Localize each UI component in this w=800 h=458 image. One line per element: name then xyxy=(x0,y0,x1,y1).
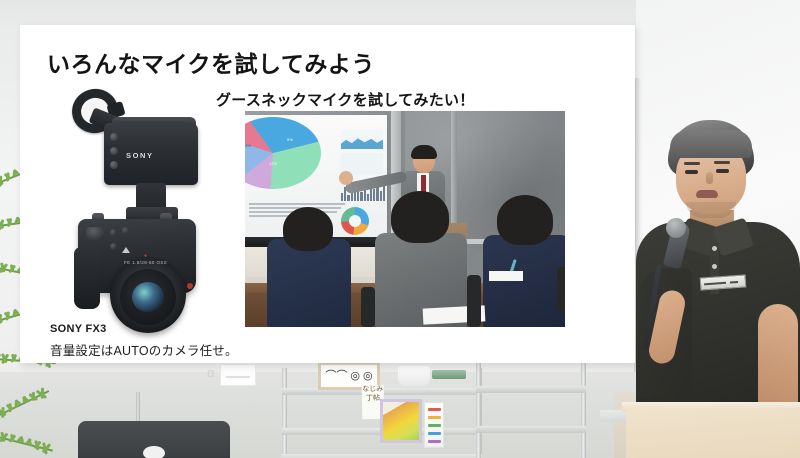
shelving-unit-right xyxy=(476,360,586,458)
stand-pole xyxy=(136,392,140,424)
live-speaker xyxy=(630,118,800,458)
pie-label-2: 12% xyxy=(269,161,277,166)
conference-room-photo: 5% 12% 38% xyxy=(245,111,565,327)
shelf-label-line1: なじみ xyxy=(362,385,384,394)
leaflet-stripe xyxy=(428,432,441,435)
index-triangle-icon xyxy=(122,247,130,253)
green-book xyxy=(432,370,466,379)
leaflet-stripe xyxy=(428,424,441,427)
record-button xyxy=(187,283,193,289)
speaker-nose xyxy=(706,172,713,184)
photo-mini-area-chart-1 xyxy=(341,129,383,149)
white-pot xyxy=(398,366,430,386)
camera-lens: FE 1.8/28-60 OSS ● xyxy=(110,257,186,333)
camera-caption-note: 音量設定はAUTOのカメラ任せ。 xyxy=(50,340,238,359)
leaflet-stripe xyxy=(428,408,441,411)
wall-notice xyxy=(220,364,256,386)
photo-chair-3 xyxy=(557,267,565,313)
lens-barrel xyxy=(120,269,176,325)
photo-pie-chart: 5% 12% 38% xyxy=(245,117,321,201)
lectern xyxy=(626,408,800,458)
leaflet-stack xyxy=(424,402,444,448)
alpha-mark: α xyxy=(207,365,215,380)
mode-dial xyxy=(86,227,104,240)
mini-bar xyxy=(341,193,343,201)
sign-glyph-1: ⌒⌒ xyxy=(325,371,347,382)
sign-glyph-3: ◎ xyxy=(363,371,373,382)
speaker-right-arm xyxy=(758,304,798,404)
speaker-eye-right xyxy=(716,169,729,173)
presenter-hair xyxy=(411,145,437,159)
speaker-mouth xyxy=(696,190,718,198)
slide-title: いろんなマイクを試してみよう xyxy=(47,45,375,79)
presentation-slide: いろんなマイクを試してみよう グースネックマイクを試してみたい！ SONY α xyxy=(20,25,635,363)
camera-caption-title: SONY FX3 xyxy=(50,323,107,335)
photo-attendee-1 xyxy=(267,207,351,327)
slide-subtitle: グースネックマイクを試してみたい！ xyxy=(216,89,475,110)
camera-product-image: SONY α FE 1.8/28-60 OSS ● xyxy=(48,87,208,337)
scene-stage: ⌒⌒ ◎ ◎ なじみ 丁帖 いろんなマイクを試してみよう グースネックマイクを試… xyxy=(0,0,800,458)
photo-paper-1 xyxy=(489,271,523,281)
photo-attendee-3 xyxy=(483,195,565,327)
mini-bar xyxy=(347,195,349,201)
sign-glyph-2: ◎ xyxy=(350,371,360,382)
leaflet-stripe xyxy=(428,416,441,419)
sony-logo: SONY xyxy=(126,151,154,160)
area-layer xyxy=(341,136,383,149)
lens-glass xyxy=(132,282,164,312)
pie-label-3: 38% xyxy=(245,143,251,148)
mini-bar xyxy=(367,194,369,201)
plant-frond xyxy=(0,428,55,456)
photo-chair-1 xyxy=(361,287,375,327)
plant-frond xyxy=(0,385,52,425)
lens-text: FE 1.8/28-60 OSS xyxy=(124,260,167,265)
mini-bar xyxy=(360,192,362,201)
chair-knob xyxy=(143,446,165,458)
camera-grip xyxy=(74,247,100,309)
framed-artwork xyxy=(380,399,422,443)
leaflet-stripe xyxy=(428,440,441,443)
speaker-fringe xyxy=(670,130,752,158)
slide-text-line xyxy=(249,203,345,205)
photo-chair-2 xyxy=(467,275,481,327)
speaker-eye-left xyxy=(685,170,698,174)
pie-label-1: 5% xyxy=(287,137,293,142)
xlr-handle-unit: SONY xyxy=(104,123,198,185)
lens-index-mark: ● xyxy=(144,253,147,259)
